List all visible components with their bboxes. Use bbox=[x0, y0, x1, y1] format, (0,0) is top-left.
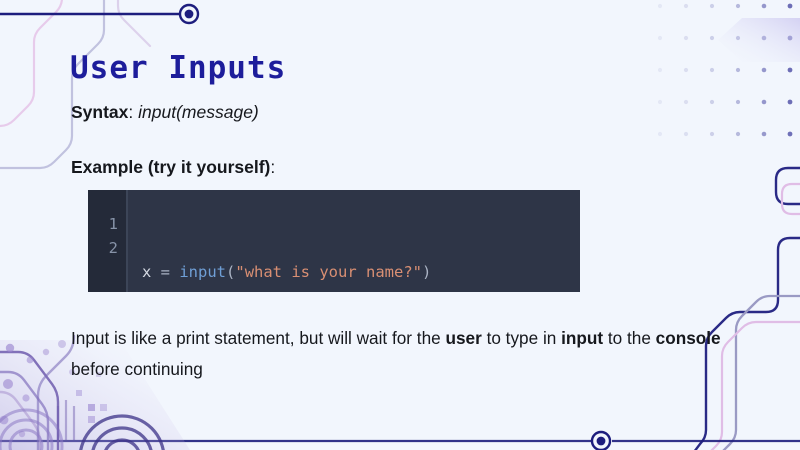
line-number: 1 bbox=[88, 212, 118, 236]
body-bold-console: console bbox=[656, 328, 721, 348]
example-label: Example (try it yourself) bbox=[71, 157, 270, 177]
code-gutter: 1 2 bbox=[88, 190, 128, 292]
slide-canvas: User Inputs Syntax: input(message) Examp… bbox=[0, 0, 800, 450]
example-separator: : bbox=[270, 157, 275, 177]
line-number: 2 bbox=[88, 236, 118, 260]
code-token-close-paren: ) bbox=[422, 263, 431, 281]
code-token-var: x bbox=[142, 263, 151, 281]
code-content[interactable]: x = input("what is your name?") print(x) bbox=[128, 190, 580, 292]
code-line-1: x = input("what is your name?") bbox=[142, 260, 580, 284]
code-token-string: "what is your name?" bbox=[235, 263, 422, 281]
syntax-line: Syntax: input(message) bbox=[71, 102, 259, 123]
body-part-4: before continuing bbox=[71, 359, 203, 379]
syntax-label: Syntax bbox=[71, 102, 128, 122]
body-part-3: to the bbox=[603, 328, 656, 348]
page-title: User Inputs bbox=[70, 50, 286, 86]
code-block[interactable]: 1 2 x = input("what is your name?") prin… bbox=[88, 190, 580, 292]
code-token-open-paren: ( bbox=[226, 263, 235, 281]
syntax-separator: : bbox=[128, 102, 133, 122]
code-token-function: input bbox=[179, 263, 226, 281]
body-bold-user: user bbox=[445, 328, 481, 348]
example-line: Example (try it yourself): bbox=[71, 157, 275, 178]
body-part-2: to type in bbox=[482, 328, 561, 348]
slide-content: User Inputs Syntax: input(message) Examp… bbox=[0, 0, 800, 450]
body-part-1: Input is like a print statement, but wil… bbox=[71, 328, 445, 348]
code-token-operator: = bbox=[151, 263, 179, 281]
body-paragraph: Input is like a print statement, but wil… bbox=[71, 323, 721, 385]
syntax-value: input(message) bbox=[138, 102, 259, 122]
body-bold-input: input bbox=[561, 328, 603, 348]
